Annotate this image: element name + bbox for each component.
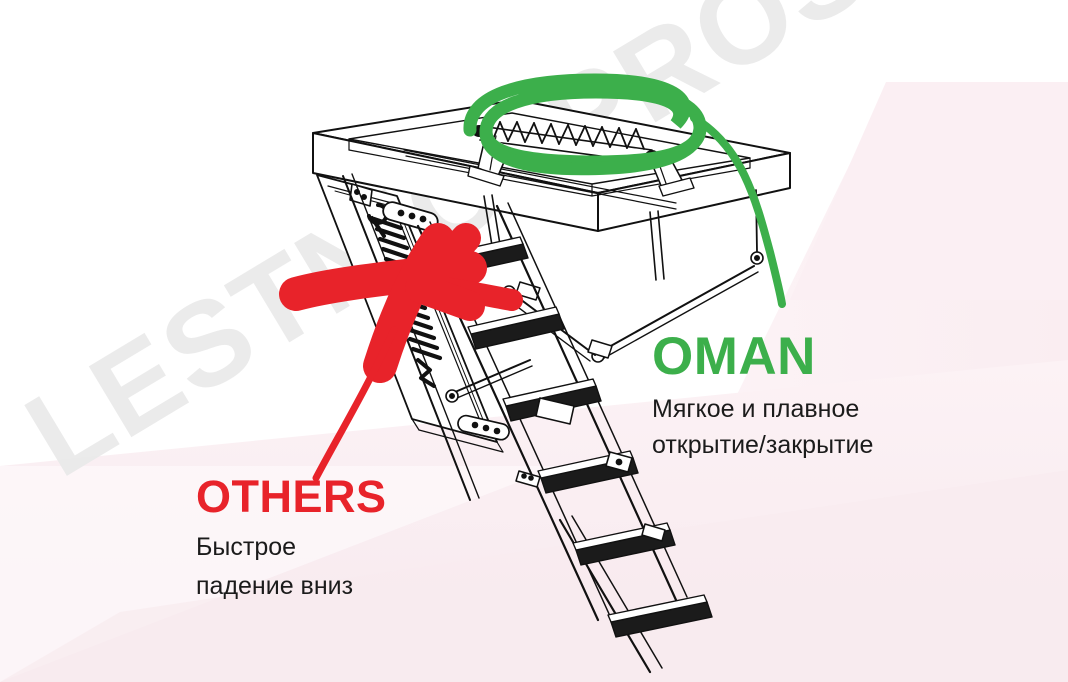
promo-banner: LESTNICI-PROSTO.RU [0, 0, 1068, 682]
others-description-line-2: падение вниз [196, 567, 596, 606]
others-title: OTHERS [196, 474, 596, 519]
oman-description-line-2: открытие/закрытие [652, 427, 1052, 463]
oman-description: Мягкое и плавное открытие/закрытие [652, 391, 1052, 464]
oman-title: OMAN [652, 330, 1052, 383]
others-description-line-1: Быстрое [196, 528, 596, 567]
labels-layer: OMAN Мягкое и плавное открытие/закрытие … [0, 0, 1068, 682]
oman-description-line-1: Мягкое и плавное [652, 391, 1052, 427]
others-label-block: OTHERS Быстрое падение вниз [196, 474, 596, 606]
oman-label-block: OMAN Мягкое и плавное открытие/закрытие [652, 330, 1052, 464]
others-description: Быстрое падение вниз [196, 528, 596, 606]
